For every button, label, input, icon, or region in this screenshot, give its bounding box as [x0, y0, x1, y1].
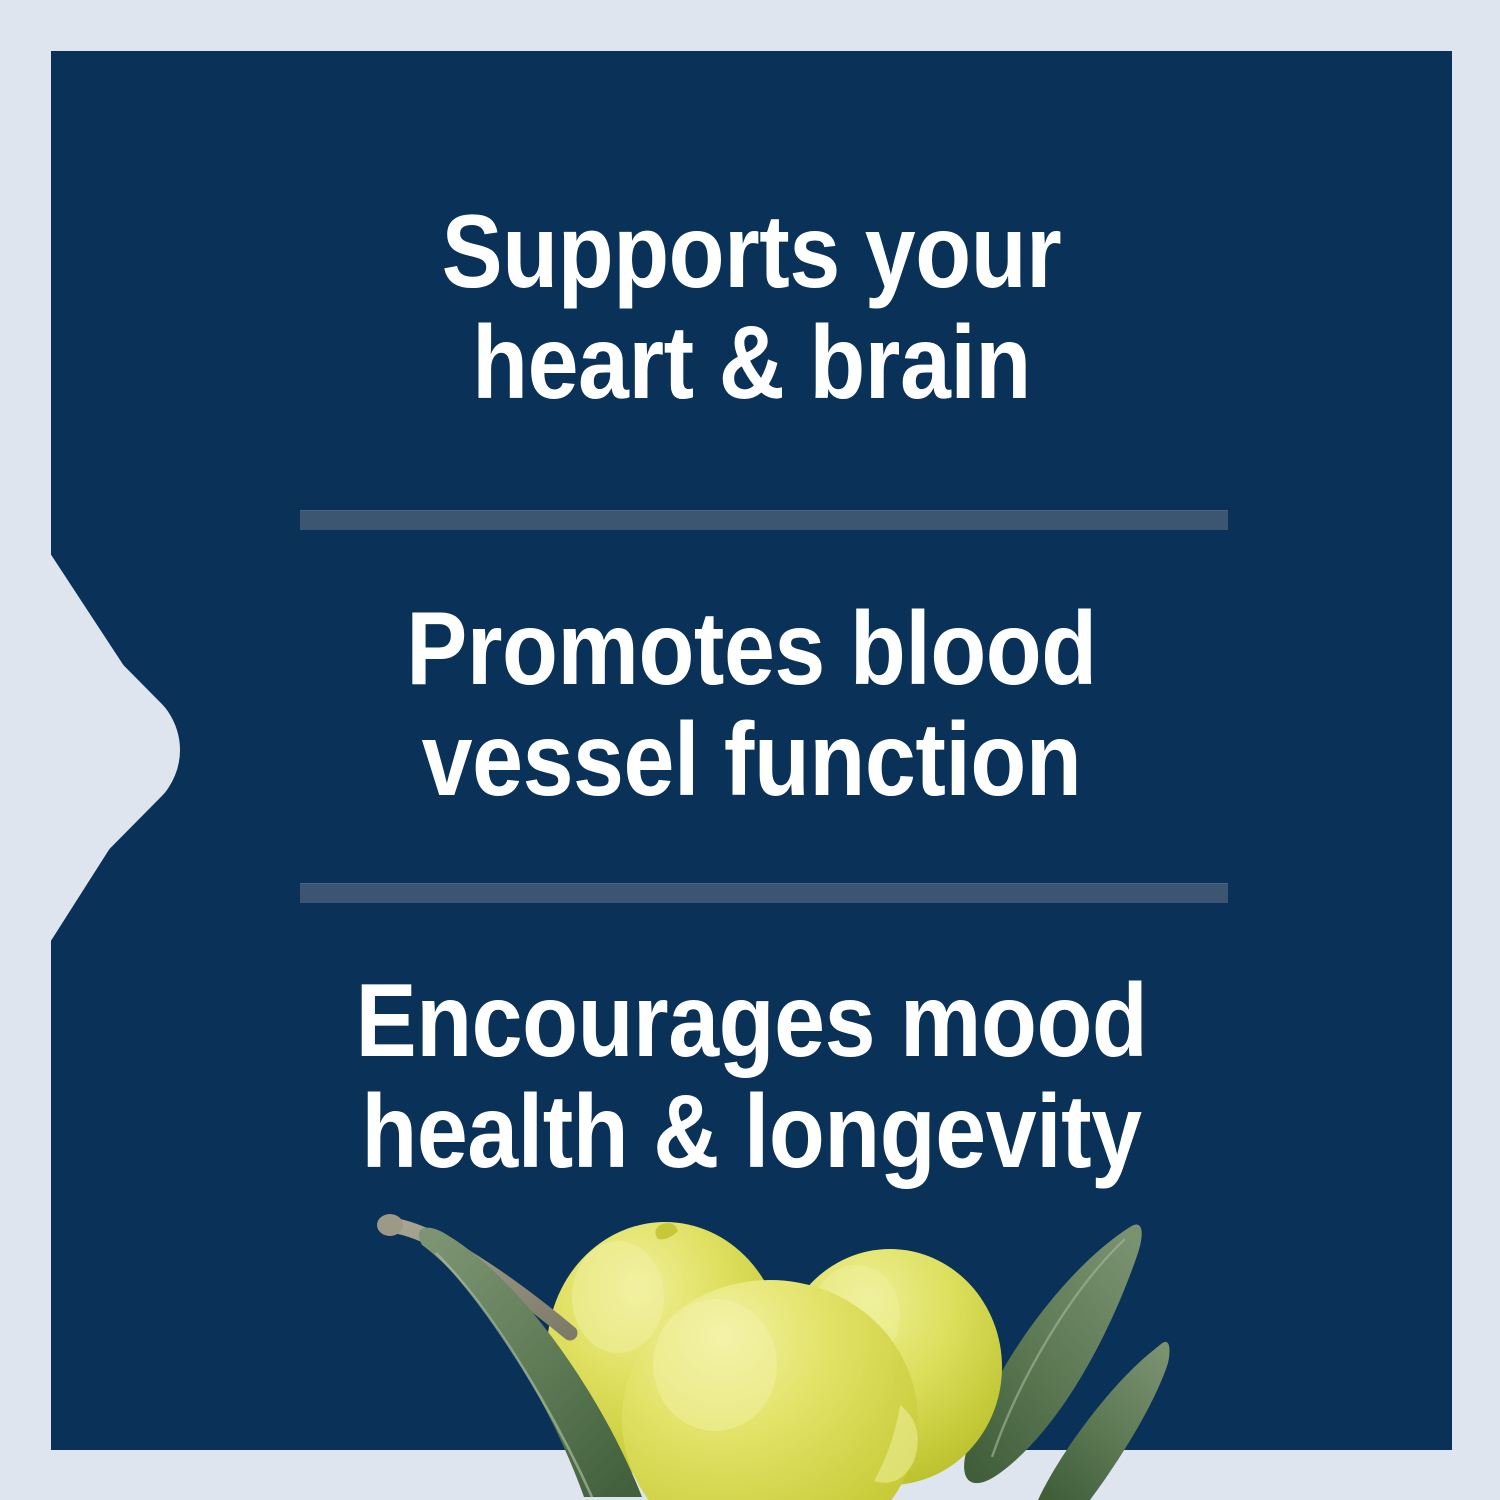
benefit-blood-vessel-line-1: Promotes blood: [135, 594, 1368, 705]
product-benefits-graphic: Supports your heart & brain Promotes blo…: [0, 0, 1500, 1500]
benefit-blood-vessel: Promotes blood vessel function: [135, 594, 1368, 817]
content-column: Supports your heart & brain Promotes blo…: [51, 51, 1452, 1450]
benefit-mood-longevity-line-1: Encourages mood: [135, 966, 1368, 1077]
benefit-mood-longevity: Encourages mood health & longevity: [135, 966, 1368, 1189]
benefit-heart-brain: Supports your heart & brain: [135, 197, 1368, 420]
benefit-divider-2: [300, 883, 1228, 903]
benefit-mood-longevity-line-2: health & longevity: [135, 1077, 1368, 1188]
benefit-heart-brain-line-1: Supports your: [135, 197, 1368, 308]
benefit-heart-brain-line-2: heart & brain: [135, 308, 1368, 419]
benefit-divider-1: [300, 510, 1228, 530]
benefit-blood-vessel-line-2: vessel function: [135, 705, 1368, 816]
